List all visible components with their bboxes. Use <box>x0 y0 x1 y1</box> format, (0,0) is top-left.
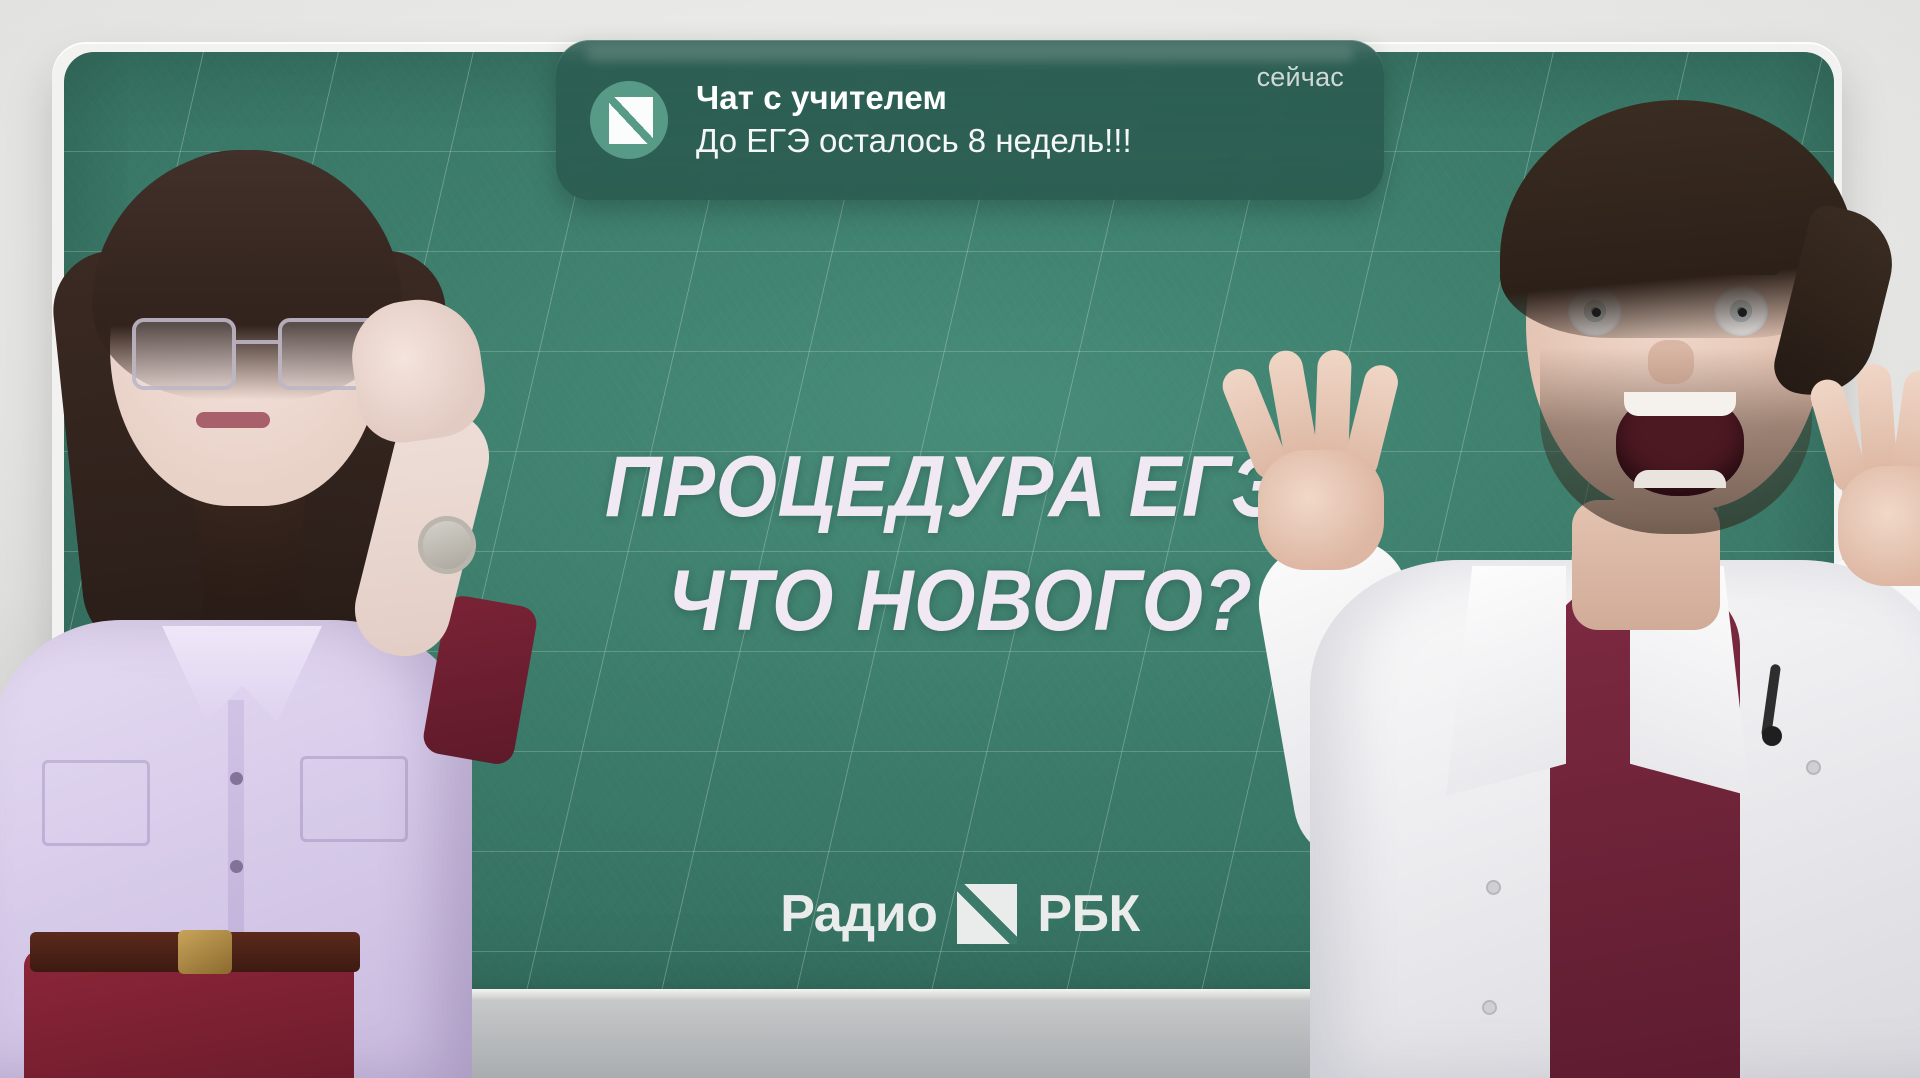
notification-title: Чат с учителем <box>696 77 1350 118</box>
woman-mouth <box>196 412 270 428</box>
logo-word-rbc: РБК <box>1037 884 1139 944</box>
man-upper-teeth <box>1624 392 1736 416</box>
person-woman-teacher <box>0 0 622 1078</box>
man-hand-left <box>1236 360 1414 570</box>
logo-word-radio: Радио <box>780 884 937 944</box>
woman-glasses <box>132 318 382 390</box>
palm <box>1258 450 1384 570</box>
man-hand-right <box>1816 386 1920 586</box>
notification-banner[interactable]: Чат с учителем До ЕГЭ осталось 8 недель!… <box>556 40 1384 200</box>
man-nose <box>1648 340 1694 384</box>
notification-timestamp: сейчас <box>1257 62 1344 93</box>
woman-shirt-pocket-right <box>300 756 408 842</box>
finger <box>1856 363 1898 481</box>
palm <box>1838 466 1920 586</box>
glasses-lens-left <box>132 318 236 390</box>
woman-belt-buckle <box>178 930 232 974</box>
rbc-slash-square-icon <box>590 81 668 159</box>
man-coat-button <box>1482 1000 1497 1015</box>
notification-body: До ЕГЭ осталось 8 недель!!! <box>696 120 1350 163</box>
man-microphone-head <box>1762 726 1782 746</box>
glasses-bridge <box>236 340 278 344</box>
rbc-slash-square-icon <box>957 884 1017 944</box>
notification-text: Чат с учителем До ЕГЭ осталось 8 недель!… <box>696 77 1350 163</box>
scene-stage: ПРОЦЕДУРА ЕГЭ: ЧТО НОВОГО? Радио РБК <box>0 0 1920 1078</box>
woman-shirt-button <box>230 860 243 873</box>
icon-glyph <box>609 97 653 144</box>
man-coat-button <box>1486 880 1501 895</box>
man-lower-teeth <box>1634 470 1726 488</box>
woman-shirt-button <box>230 772 243 785</box>
man-coat-button <box>1806 760 1821 775</box>
woman-shirt-pocket-left <box>42 760 150 846</box>
notification-gloss <box>586 46 1354 62</box>
